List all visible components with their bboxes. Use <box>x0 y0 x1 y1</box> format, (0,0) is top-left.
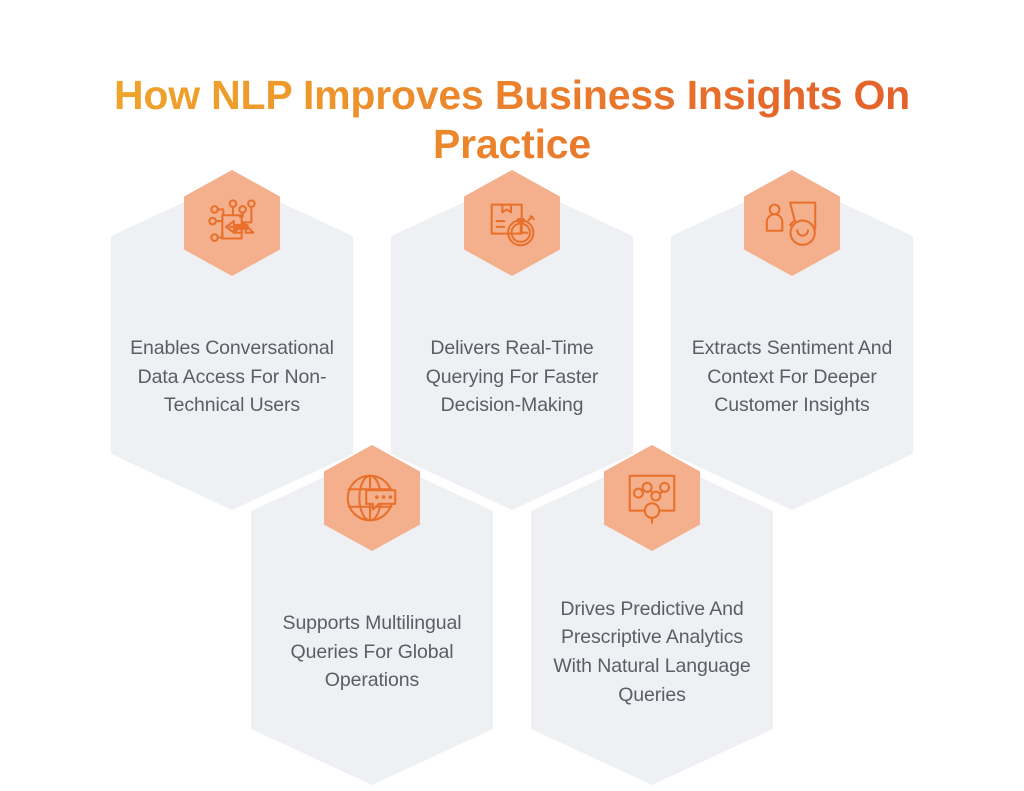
card-label: Delivers Real-Time Querying For Faster D… <box>408 334 616 420</box>
page-title: How NLP Improves Business Insights On Pr… <box>62 71 962 168</box>
card-label: Drives Predictive And Prescriptive Analy… <box>548 595 756 710</box>
card-label: Extracts Sentiment And Context For Deepe… <box>688 334 896 420</box>
card-multilingual-queries[interactable]: Supports Multilingual Queries For Global… <box>251 455 493 785</box>
card-row-bottom: Supports Multilingual Queries For Global… <box>0 455 1024 785</box>
infographic-canvas: How NLP Improves Business Insights On Pr… <box>0 0 1024 791</box>
card-predictive-analytics[interactable]: Drives Predictive And Prescriptive Analy… <box>531 455 773 785</box>
card-label: Supports Multilingual Queries For Global… <box>268 609 476 695</box>
card-label: Enables Conversational Data Access For N… <box>128 334 336 420</box>
